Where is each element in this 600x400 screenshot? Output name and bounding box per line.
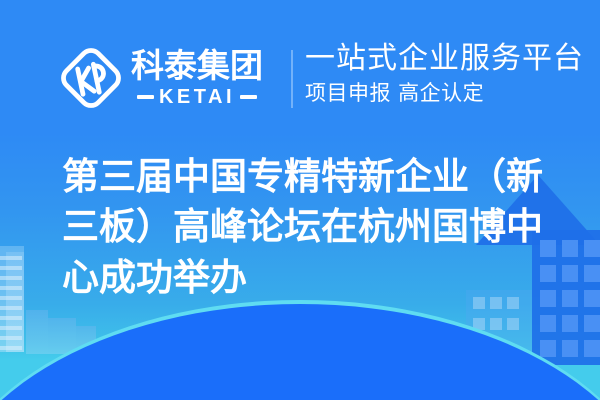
tagline-sub: 项目申报 高企认定 <box>305 82 584 105</box>
logo-dash-right <box>240 95 257 99</box>
ketai-diamond-kp-logo-icon <box>57 44 125 112</box>
logo-dash-left <box>137 95 154 99</box>
header-tagline: 一站式企业服务平台 项目申报 高企认定 <box>305 43 584 105</box>
banner-header: 科泰集团 KETAI 一站式企业服务平台 项目申报 高企认定 <box>0 0 600 125</box>
tagline-main: 一站式企业服务平台 <box>305 43 584 75</box>
header-divider <box>291 50 293 108</box>
brand-logo[interactable]: 科泰集团 KETAI <box>57 44 263 112</box>
logo-company-cn: 科泰集团 <box>131 49 263 82</box>
logo-company-en: KETAI <box>159 87 235 107</box>
page-title: 第三届中国专精特新企业（新三板）高峰论坛在杭州国博中心成功举办 <box>62 152 562 303</box>
office-tower-icon <box>0 246 24 352</box>
promo-banner: 科泰集团 KETAI 一站式企业服务平台 项目申报 高企认定 第三届中国专精特新… <box>0 0 600 400</box>
